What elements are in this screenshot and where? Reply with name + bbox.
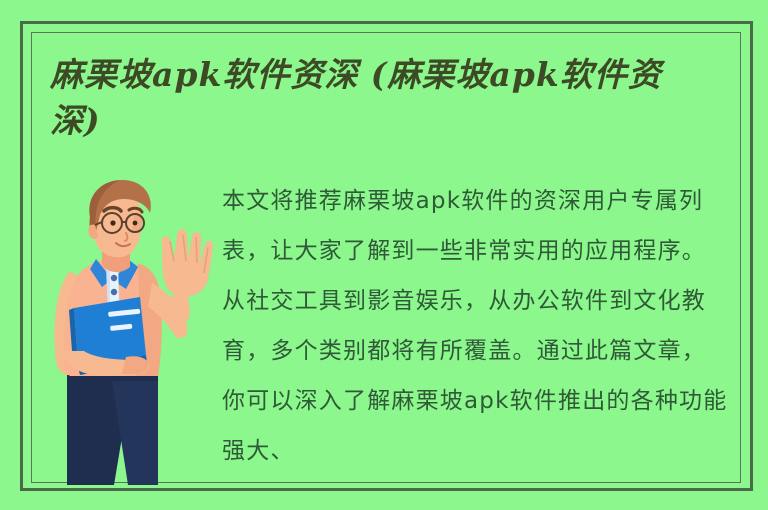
trousers-shape	[67, 375, 158, 485]
page-title: 麻栗坡apk软件资深 (麻栗坡apk软件资深)	[50, 52, 710, 144]
illustration-man-waving-holding-book	[40, 175, 220, 485]
page-root: 麻栗坡apk软件资深 (麻栗坡apk软件资深)	[0, 0, 768, 510]
waving-hand-shape	[162, 229, 213, 297]
article-body: 本文将推荐麻栗坡apk软件的资深用户专属列表，让大家了解到一些非常实用的应用程序…	[222, 176, 730, 488]
